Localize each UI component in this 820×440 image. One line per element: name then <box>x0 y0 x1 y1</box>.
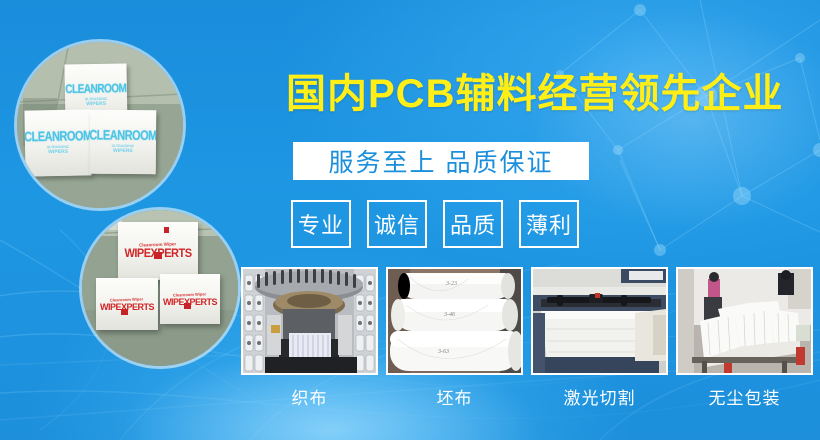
process-item-cleanroom-packaging: 无尘包装 <box>676 267 813 409</box>
value-box-label: 专业 <box>298 208 344 240</box>
red-square-mark <box>154 252 162 259</box>
carton-sub2: WIPERS <box>113 148 133 154</box>
greige-fabric-rolls-photo: 3-23 3-46 3-63 <box>386 267 523 375</box>
red-square-mark <box>164 227 169 233</box>
wipexperts-carton: Cleanroom Wiper WIPEXPERTS <box>118 222 198 280</box>
carton-brand: CLEANROOM <box>65 82 126 97</box>
value-box-label: 薄利 <box>526 208 572 240</box>
banner-subtitle: 服务至上 品质保证 <box>329 143 554 179</box>
process-caption: 织布 <box>292 384 328 409</box>
value-box-integrity: 诚信 <box>367 200 427 248</box>
knitting-machine-photo <box>241 267 378 375</box>
svg-text:3-63: 3-63 <box>437 349 449 355</box>
wipexperts-carton: Cleanroom Wiper WIPEXPERTS <box>96 278 158 330</box>
process-item-laser-cutting: 激光切割 <box>531 267 668 409</box>
value-box-label: 品质 <box>450 208 496 240</box>
carton-sub2: WIPERS <box>86 100 106 106</box>
value-box-professional: 专业 <box>291 200 351 248</box>
red-square-mark <box>121 309 128 315</box>
process-caption: 坯布 <box>437 384 473 409</box>
value-proposition-list: 专业 诚信 品质 薄利 <box>291 200 579 248</box>
svg-text:3-46: 3-46 <box>443 311 455 318</box>
carton-sub2: WIPERS <box>48 149 68 155</box>
carton-brand: CLEANROOM <box>90 128 157 144</box>
cleanroom-packaging-photo <box>676 267 813 375</box>
process-caption: 激光切割 <box>564 384 636 409</box>
wipe-carton: CLEANROOM ULTRASONIC WIPERS <box>24 109 91 176</box>
value-box-low-margin: 薄利 <box>519 200 579 248</box>
product-photo-cleanroom-wipes: CLEANROOM ULTRASONIC WIPERS CLEANROOM UL… <box>17 42 183 208</box>
red-square-mark <box>184 303 191 309</box>
subtitle-band: 服务至上 品质保证 <box>293 142 589 180</box>
svg-text:3-23: 3-23 <box>445 281 457 287</box>
process-item-weaving: 织布 <box>241 267 378 409</box>
promotional-banner: CLEANROOM ULTRASONIC WIPERS CLEANROOM UL… <box>0 0 820 440</box>
wipexperts-carton: Cleanroom Wiper WIPEXPERTS <box>160 274 220 324</box>
carton-brand: CLEANROOM <box>24 129 91 145</box>
process-item-greige-fabric: 3-23 3-46 3-63 坯布 <box>386 267 523 409</box>
banner-headline: 国内PCB辅料经营领先企业 <box>286 72 783 116</box>
process-thumbnail-strip: 织布 <box>241 267 813 409</box>
process-caption: 无尘包装 <box>709 384 781 409</box>
wipe-carton: CLEANROOM ULTRASONIC WIPERS <box>90 110 157 175</box>
value-box-quality: 品质 <box>443 200 503 248</box>
value-box-label: 诚信 <box>374 208 420 240</box>
laser-cutting-machine-photo <box>531 267 668 375</box>
product-photo-wipexperts: Cleanroom Wiper WIPEXPERTS Cleanroom Wip… <box>82 210 238 366</box>
